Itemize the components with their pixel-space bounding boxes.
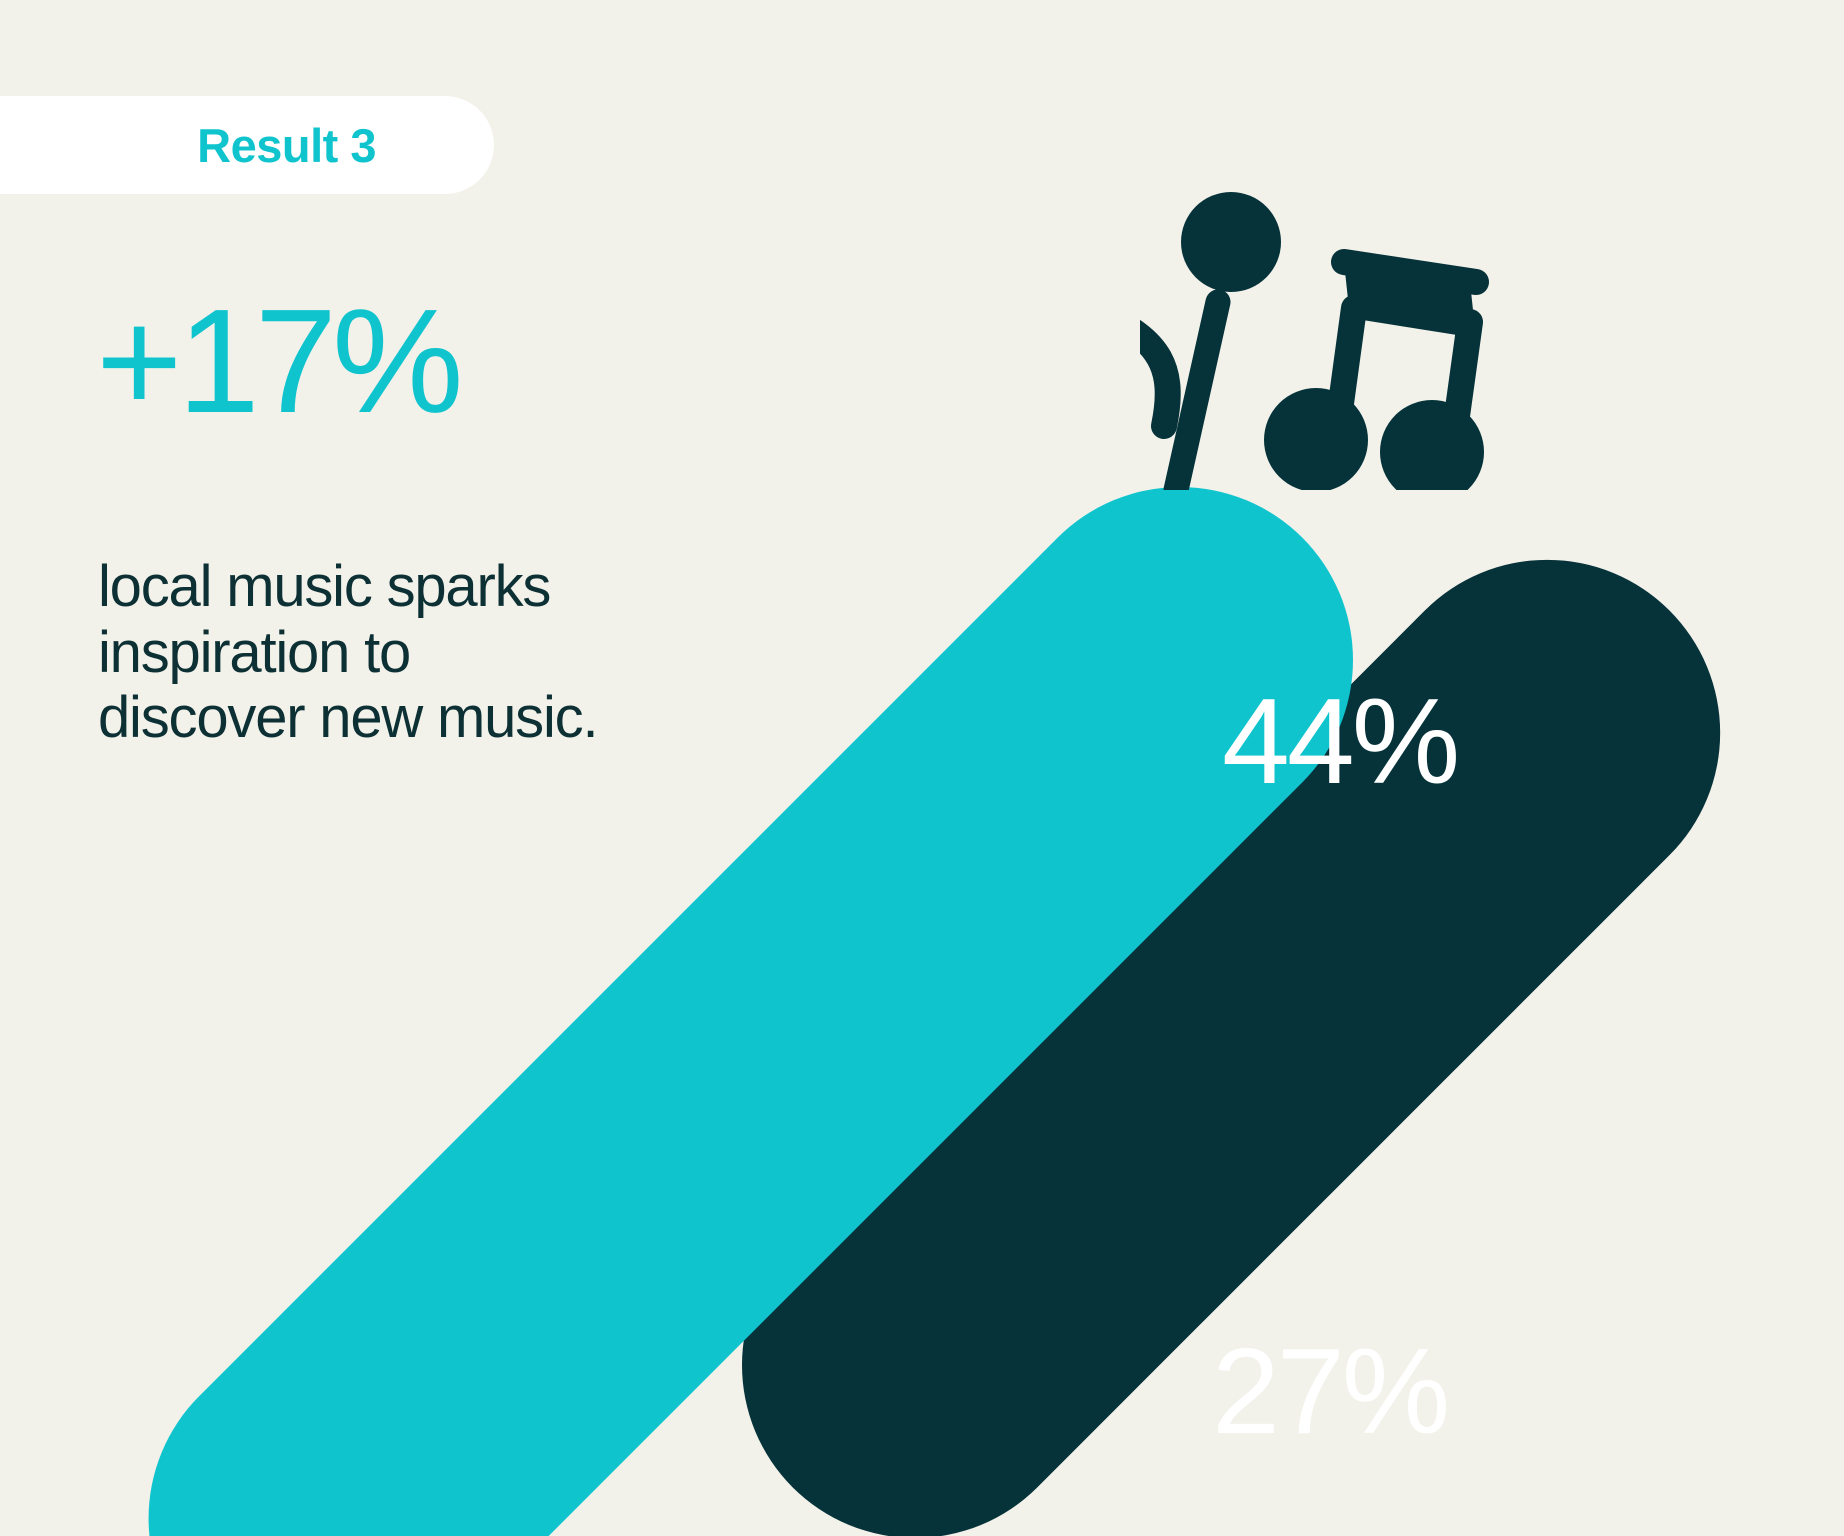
eighth-note-icon xyxy=(1140,312,1168,490)
bar-value-label-44: 44% xyxy=(1222,680,1457,802)
music-notes-icon xyxy=(1140,190,1560,490)
infographic-slide: Result 3 +17% local music sparks inspira… xyxy=(0,0,1844,1536)
bar-value-label-27: 27% xyxy=(1212,1330,1447,1452)
diagonal-bar-chart: 44% 27% xyxy=(0,0,1844,1536)
beamed-eighth-notes-icon xyxy=(1264,262,1484,490)
